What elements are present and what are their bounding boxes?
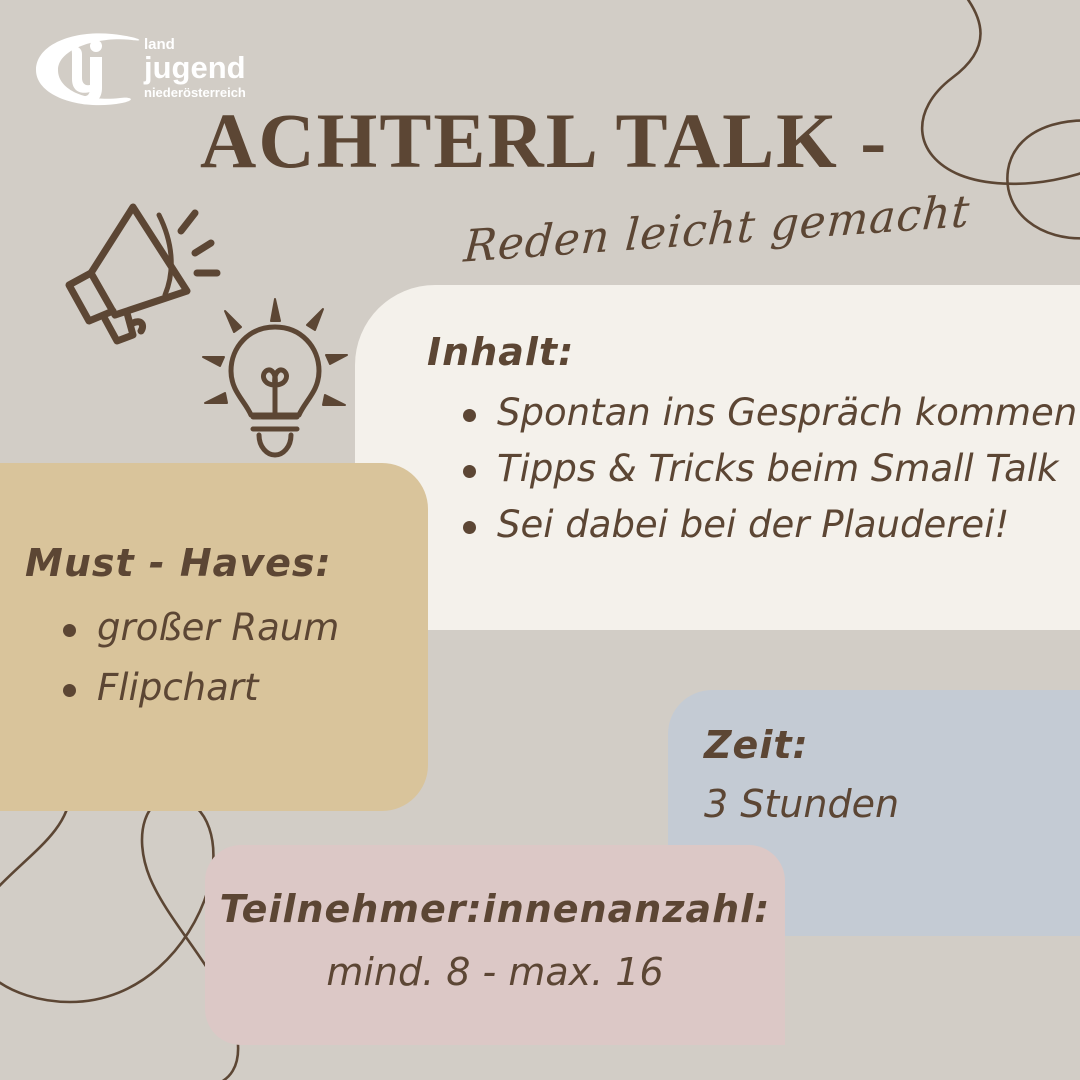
inhalt-list: Spontan ins Gespräch kommen Tipps & Tric… [455, 385, 1077, 554]
list-item: Flipchart [55, 658, 339, 718]
list-item: Sei dabei bei der Plauderei! [455, 497, 1077, 553]
teilnehmer-value: mind. 8 - max. 16 [205, 950, 785, 994]
must-haves-heading: Must - Haves: [25, 541, 332, 585]
must-haves-list: großer Raum Flipchart [55, 598, 339, 718]
teilnehmer-heading: Teilnehmer:innenanzahl: [205, 887, 785, 931]
zeit-heading: Zeit: [704, 723, 809, 767]
zeit-value: 3 Stunden [704, 782, 899, 826]
inhalt-heading: Inhalt: [427, 330, 574, 374]
card-teilnehmer: Teilnehmer:innenanzahl: mind. 8 - max. 1… [205, 845, 785, 1045]
logo-line2: jugend [143, 50, 246, 85]
card-must-haves: Must - Haves: großer Raum Flipchart [0, 463, 428, 811]
card-inhalt: Inhalt: Spontan ins Gespräch kommen Tipp… [355, 285, 1080, 630]
page-subtitle: Reden leicht gemacht [200, 184, 1002, 291]
lightbulb-icon [195, 295, 355, 465]
list-item: Tipps & Tricks beim Small Talk [455, 441, 1077, 497]
list-item: großer Raum [55, 598, 339, 658]
list-item: Spontan ins Gespräch kommen [455, 385, 1077, 441]
page-title: ACHTERL TALK - [200, 104, 1000, 178]
title-block: ACHTERL TALK - Reden leicht gemacht [200, 104, 1000, 235]
